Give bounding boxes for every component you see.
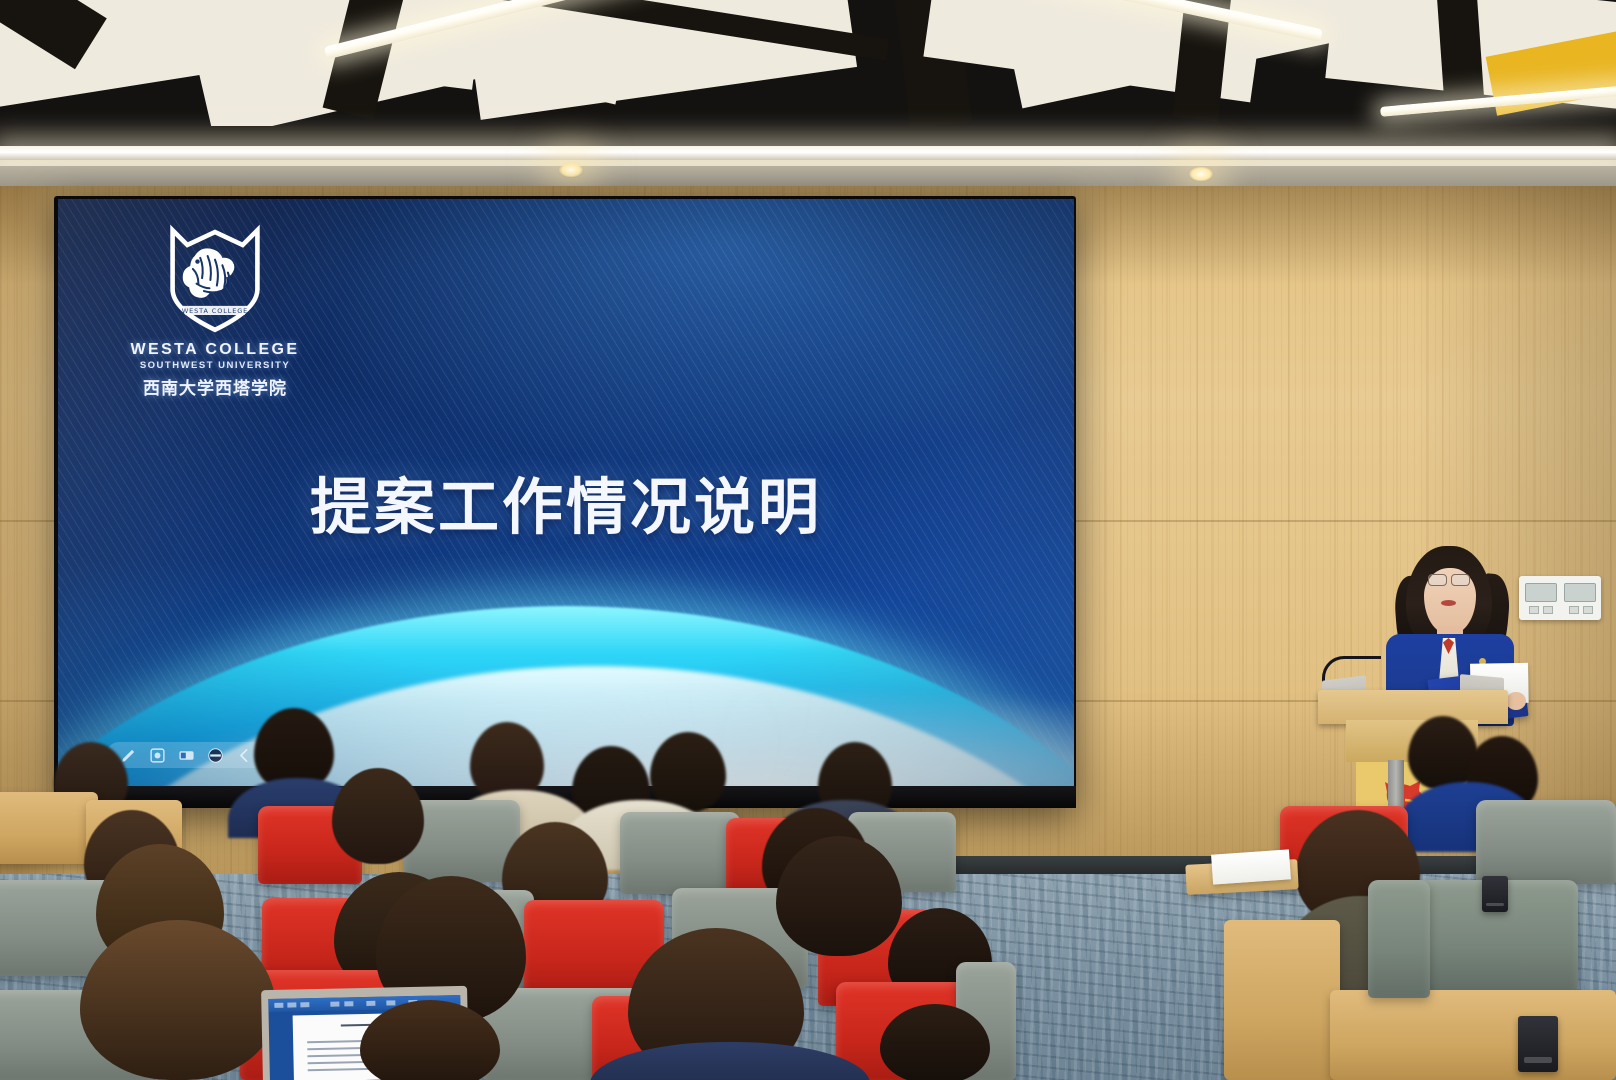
lips bbox=[1441, 600, 1456, 606]
seat[interactable] bbox=[1224, 920, 1340, 1080]
seat[interactable] bbox=[1476, 800, 1616, 884]
ribbon-icon[interactable] bbox=[386, 1000, 395, 1005]
tablet-icon[interactable] bbox=[1518, 1016, 1558, 1072]
ceiling-downlight bbox=[1188, 166, 1214, 182]
seat[interactable] bbox=[0, 792, 98, 864]
ceiling-downlight bbox=[558, 162, 584, 178]
ceiling bbox=[0, 0, 1616, 152]
ribbon-icon[interactable] bbox=[274, 1003, 283, 1008]
seat[interactable] bbox=[620, 812, 740, 894]
svg-text:WESTA COLLEGE: WESTA COLLEGE bbox=[182, 307, 248, 315]
logo-english-subtitle: SOUTHWEST UNIVERSITY bbox=[120, 360, 310, 371]
lectern-top bbox=[1318, 690, 1508, 724]
glasses-icon bbox=[1451, 574, 1470, 586]
seat[interactable] bbox=[1368, 880, 1430, 998]
seat[interactable] bbox=[1330, 990, 1616, 1080]
lecture-hall-photo: WESTA COLLEGE WESTA COLLEGE SOUTHWEST UN… bbox=[0, 0, 1616, 1080]
slide-title: 提案工作情况说明 bbox=[58, 457, 1074, 546]
presenter-toolbar[interactable] bbox=[106, 742, 267, 768]
chevron-left-icon[interactable] bbox=[236, 747, 253, 764]
pointer-target-icon[interactable] bbox=[149, 747, 166, 764]
ac-thermostat-panel-icon[interactable] bbox=[1519, 576, 1601, 620]
tiger-shield-crest-icon: WESTA COLLEGE bbox=[159, 221, 271, 339]
black-circle-icon[interactable] bbox=[207, 747, 224, 764]
panel-button[interactable] bbox=[1543, 606, 1553, 614]
ribbon-icon[interactable] bbox=[344, 1001, 353, 1006]
logo-english-name: WESTA COLLEGE bbox=[120, 341, 310, 359]
college-logo: WESTA COLLEGE WESTA COLLEGE SOUTHWEST UN… bbox=[120, 221, 310, 399]
slides-grid-icon[interactable] bbox=[178, 747, 195, 764]
tablet-icon[interactable] bbox=[1482, 876, 1508, 912]
ceiling-light-strip bbox=[0, 146, 1616, 160]
panel-button[interactable] bbox=[1529, 606, 1539, 614]
presentation-display[interactable]: WESTA COLLEGE WESTA COLLEGE SOUTHWEST UN… bbox=[58, 199, 1074, 786]
panel-button[interactable] bbox=[1569, 606, 1579, 614]
audience-member bbox=[332, 768, 424, 864]
ribbon-icon[interactable] bbox=[330, 1002, 339, 1007]
ribbon-icon[interactable] bbox=[366, 1001, 375, 1006]
panel-display bbox=[1525, 583, 1557, 602]
printed-handout bbox=[1211, 849, 1291, 884]
audience-member bbox=[650, 732, 726, 812]
ribbon-icon[interactable] bbox=[287, 1002, 296, 1007]
ribbon-icon[interactable] bbox=[300, 1002, 309, 1007]
pen-icon[interactable] bbox=[120, 747, 137, 764]
logo-chinese-name: 西南大学西塔学院 bbox=[120, 374, 310, 399]
glasses-icon bbox=[1428, 574, 1447, 586]
ceiling-beam bbox=[1435, 0, 1485, 111]
panel-display bbox=[1564, 583, 1596, 602]
panel-button[interactable] bbox=[1583, 606, 1593, 614]
hand bbox=[1506, 692, 1526, 710]
